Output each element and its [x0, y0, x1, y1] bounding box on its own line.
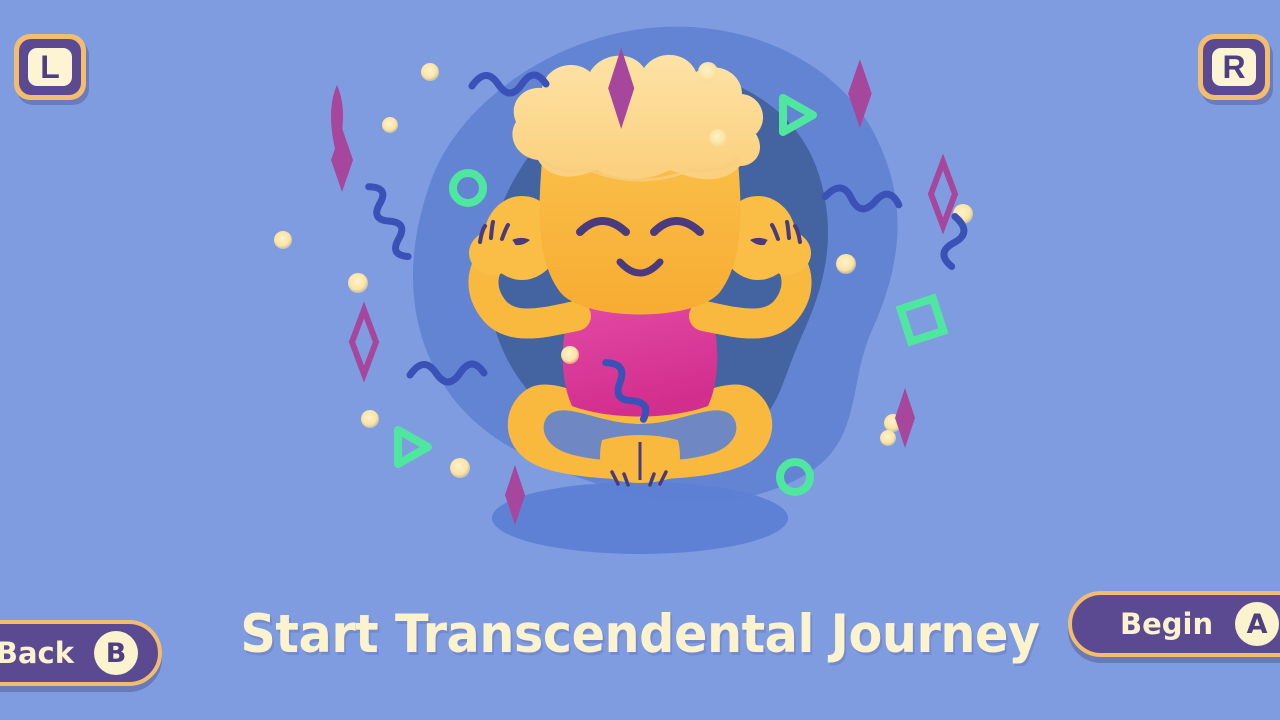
- right-shoulder-inner-frame: R: [1203, 39, 1265, 95]
- back-button-label: Back: [0, 639, 74, 668]
- begin-button[interactable]: Begin A: [1068, 591, 1280, 657]
- game-screen: L R: [0, 0, 1280, 720]
- back-button[interactable]: Back B: [0, 620, 162, 686]
- left-shoulder-button[interactable]: L: [14, 34, 86, 100]
- character: [469, 55, 811, 485]
- right-shoulder-label: R: [1222, 51, 1245, 83]
- page-title: Start Transcendental Journey: [45, 604, 1235, 665]
- b-button-badge: B: [94, 631, 138, 675]
- left-shoulder-inner-frame: L: [19, 39, 81, 95]
- character-shadow: [492, 482, 788, 554]
- a-button-badge: A: [1235, 602, 1279, 646]
- b-button-glyph: B: [106, 640, 127, 667]
- begin-button-label: Begin: [1120, 610, 1213, 639]
- right-shoulder-face: R: [1212, 48, 1256, 86]
- cloud-hair: [512, 55, 763, 180]
- right-shoulder-button[interactable]: R: [1198, 34, 1270, 100]
- left-shoulder-label: L: [40, 51, 60, 83]
- a-button-glyph: A: [1247, 611, 1268, 638]
- meditating-character-illustration: [250, 10, 1030, 590]
- left-shoulder-face: L: [28, 48, 72, 86]
